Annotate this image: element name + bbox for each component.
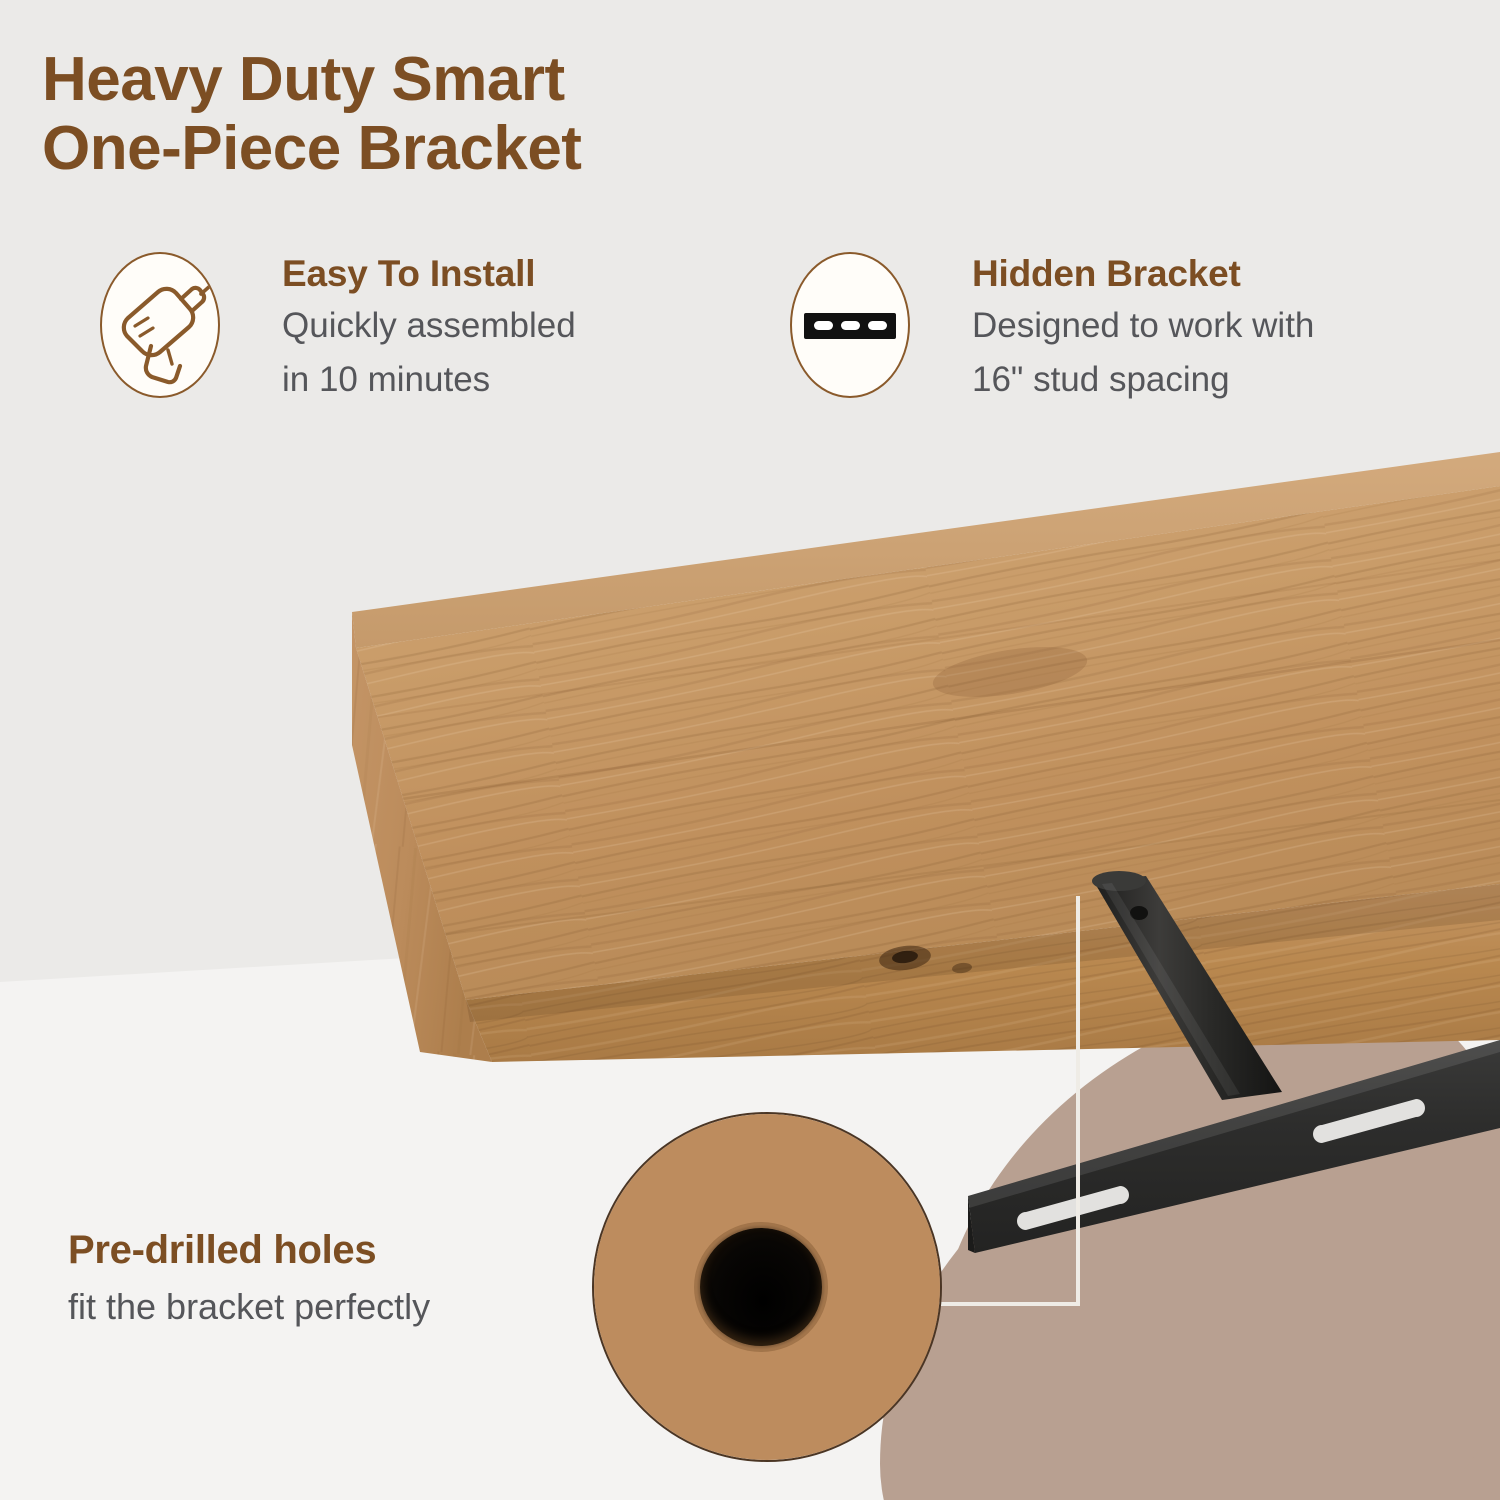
feature-desc-line-2: in 10 minutes (282, 357, 576, 403)
callout-predrilled-holes: Pre-drilled holes fit the bracket perfec… (68, 1228, 430, 1329)
wall-bracket-icon (790, 252, 910, 398)
page-title-line-1: Heavy Duty Smart (42, 45, 565, 114)
feature-text-block: Hidden Bracket Designed to work with 16"… (972, 252, 1314, 403)
feature-easy-to-install: Easy To Install Quickly assembled in 10 … (100, 252, 576, 403)
callout-title: Pre-drilled holes (68, 1228, 430, 1272)
callout-description: fit the bracket perfectly (68, 1284, 430, 1329)
feature-desc-line-1: Designed to work with (972, 303, 1314, 349)
inset-drilled-hole (700, 1228, 822, 1346)
feature-desc-line-1: Quickly assembled (282, 303, 576, 349)
page-title-line-2: One-Piece Bracket (42, 115, 1042, 184)
drill-icon (100, 252, 220, 398)
page-title: Heavy Duty Smart One-Piece Bracket (42, 46, 1042, 184)
feature-hidden-bracket: Hidden Bracket Designed to work with 16"… (790, 252, 1314, 403)
feature-title: Easy To Install (282, 254, 576, 295)
feature-title: Hidden Bracket (972, 254, 1314, 295)
feature-desc-line-2: 16" stud spacing (972, 357, 1314, 403)
predrilled-hole-inset (592, 1112, 942, 1462)
feature-text-block: Easy To Install Quickly assembled in 10 … (282, 252, 576, 403)
infographic-canvas: Heavy Duty Smart One-Piece Bracket (0, 0, 1500, 1500)
